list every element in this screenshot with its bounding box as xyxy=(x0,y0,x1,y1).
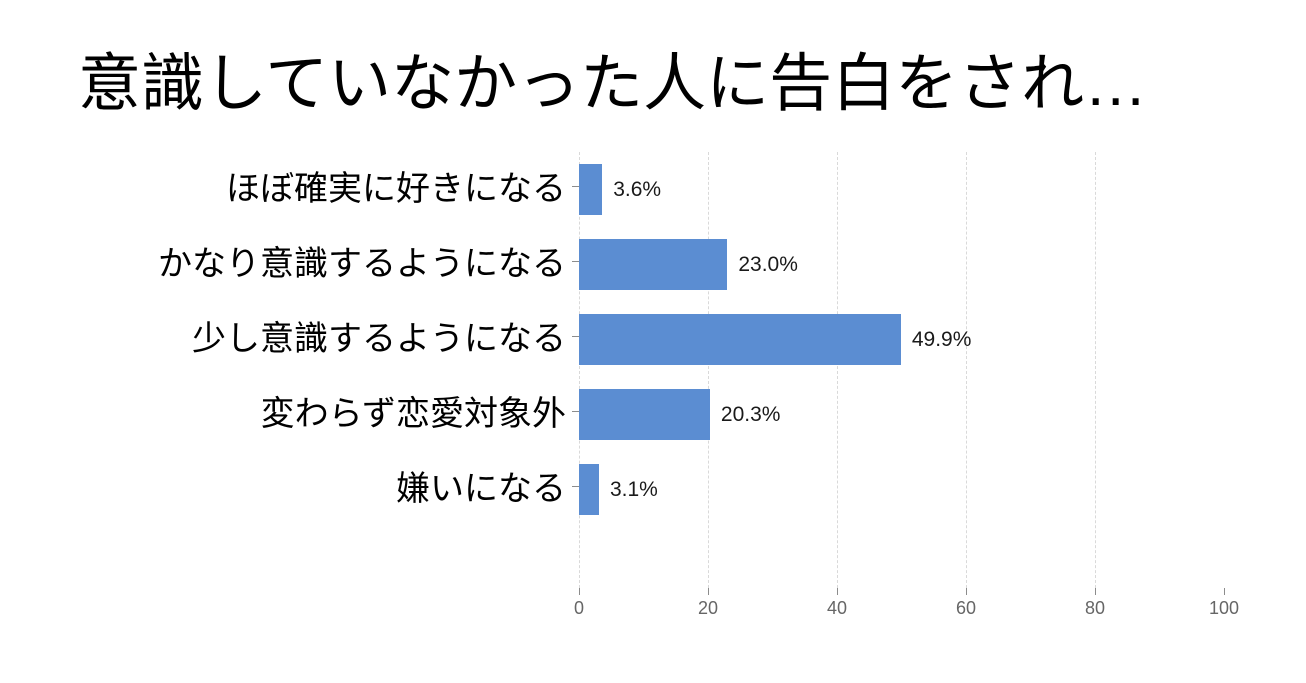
bar-row: 変わらず恋愛対象外20.3% xyxy=(579,377,1224,452)
x-axis-tick-label: 100 xyxy=(1209,598,1239,619)
x-axis-tick-label: 60 xyxy=(956,598,976,619)
bar xyxy=(579,314,901,365)
bar xyxy=(579,389,710,440)
y-axis-tick-mark xyxy=(572,411,579,412)
x-axis-tick-label: 80 xyxy=(1085,598,1105,619)
y-axis-tick-mark xyxy=(572,486,579,487)
x-axis-tick-mark xyxy=(1224,588,1225,595)
x-axis-tick-label: 20 xyxy=(698,598,718,619)
bar-row: 嫌いになる3.1% xyxy=(579,452,1224,527)
bar-value-label: 49.9% xyxy=(901,314,972,365)
y-axis-tick-mark xyxy=(572,261,579,262)
y-axis-tick-mark xyxy=(572,186,579,187)
bar-value-label: 3.6% xyxy=(602,164,661,215)
x-axis-tick-mark xyxy=(579,588,580,595)
category-label: かなり意識するようになる xyxy=(158,239,566,290)
category-label: 嫌いになる xyxy=(396,464,566,515)
category-label: 少し意識するようになる xyxy=(192,314,566,365)
bar xyxy=(579,164,602,215)
bar-value-label: 3.1% xyxy=(599,464,658,515)
x-axis-tick-label: 0 xyxy=(574,598,584,619)
bar xyxy=(579,464,599,515)
chart-canvas: 意識していなかった人に告白をされ… 020406080100 ほぼ確実に好きにな… xyxy=(0,0,1306,683)
bar-row: 少し意識するようになる49.9% xyxy=(579,302,1224,377)
bar-row: ほぼ確実に好きになる3.6% xyxy=(579,152,1224,227)
chart-title: 意識していなかった人に告白をされ… xyxy=(78,38,1258,130)
x-axis-tick-mark xyxy=(708,588,709,595)
x-axis-tick-mark xyxy=(1095,588,1096,595)
x-axis-tick-mark xyxy=(837,588,838,595)
bar-row: かなり意識するようになる23.0% xyxy=(579,227,1224,302)
bar xyxy=(579,239,727,290)
x-axis-tick-mark xyxy=(966,588,967,595)
bar-value-label: 23.0% xyxy=(727,239,798,290)
category-label: ほぼ確実に好きになる xyxy=(226,164,566,215)
bar-value-label: 20.3% xyxy=(710,389,781,440)
x-axis-tick-label: 40 xyxy=(827,598,847,619)
y-axis-tick-mark xyxy=(572,336,579,337)
plot-area: 020406080100 ほぼ確実に好きになる3.6%かなり意識するようになる2… xyxy=(579,152,1224,588)
category-label: 変わらず恋愛対象外 xyxy=(261,389,566,440)
